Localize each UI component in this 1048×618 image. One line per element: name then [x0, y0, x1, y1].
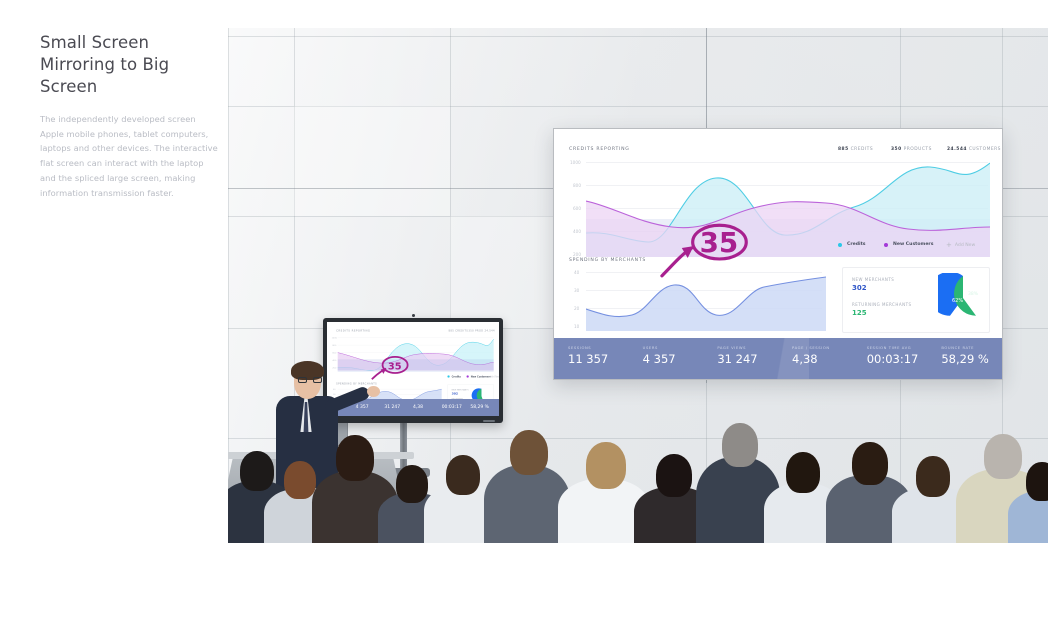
legend-dot-new-customers [884, 243, 888, 247]
returning-merchants-label: RETURNING MERCHANTS [852, 302, 912, 307]
page-root: Small Screen Mirroring to Big Screen The… [0, 0, 1048, 618]
kpi-products: 350 PRODUCTS [891, 147, 932, 152]
pie-label-b: 38% [968, 291, 979, 297]
kpi-customers-value: 24.544 [947, 147, 967, 152]
wall-panel [294, 106, 450, 216]
new-merchants-label: NEW MERCHANTS [852, 277, 894, 282]
legend-label-credits: Credits [847, 242, 866, 247]
credits-ytick-800: 800 [573, 183, 581, 188]
add-new-button[interactable]: + Add New [946, 242, 975, 249]
legend-dot-credits [838, 243, 842, 247]
merchants-ytick-40: 40 [574, 270, 579, 275]
presenter-hand [367, 386, 380, 397]
stat-users-label: USERS [643, 346, 704, 350]
credits-ytick-1000: 1000 [570, 160, 581, 165]
stat-sessions-value: 11 357 [568, 352, 629, 366]
article-body: The independently developed screen Apple… [40, 112, 222, 201]
stat-page-views-label: PAGE VIEWS [717, 346, 778, 350]
kpi-products-value: 350 [891, 147, 902, 152]
stat-page-per-session-label: PAGE / SESSION [792, 346, 853, 350]
stat-users: USERS 4 357 [629, 338, 704, 379]
glasses-icon [298, 377, 322, 383]
stat-session-time-avg-label: SESSION TIME AVG [867, 346, 928, 350]
kpi-customers-label: CUSTOMERS [969, 147, 1001, 152]
article-text-column: Small Screen Mirroring to Big Screen The… [40, 32, 222, 200]
add-new-label: Add New [955, 243, 975, 248]
stat-session-time-avg: SESSION TIME AVG 00:03:17 [853, 338, 928, 379]
credits-ytick-600: 600 [573, 206, 581, 211]
kpi-credits-label: CREDITS [851, 147, 874, 152]
pie-label-a: 62% [952, 298, 963, 304]
credits-ytick-200: 200 [573, 252, 581, 257]
kpi-customers: 24.544 CUSTOMERS [947, 147, 1001, 152]
merchants-pie-chart: 62% 38% [938, 273, 988, 323]
merchants-ytick-10: 10 [574, 324, 579, 329]
svg-text:35: 35 [388, 361, 402, 372]
merchants-area-chart [586, 269, 826, 337]
dashboard-card: CREDITS REPORTING 885 CREDITS 350 PRODUC… [553, 128, 1003, 380]
legend-new-customers[interactable]: New Customers [884, 242, 933, 247]
returning-merchants-value: 125 [852, 309, 867, 317]
page-title: Small Screen Mirroring to Big Screen [40, 32, 222, 98]
stat-page-per-session: PAGE / SESSION 4,38 [778, 338, 853, 379]
merchants-section-title: SPENDING BY MERCHANTS [569, 258, 646, 263]
plus-icon: + [946, 242, 952, 249]
legend-credits[interactable]: Credits [838, 242, 866, 247]
stat-sessions: SESSIONS 11 357 [554, 338, 629, 379]
merchants-ytick-30: 30 [574, 288, 579, 293]
stat-session-time-avg-value: 00:03:17 [867, 352, 928, 366]
tv-camera-icon [412, 314, 415, 317]
kpi-stat-bar: SESSIONS 11 357 USERS 4 357 PAGE VIEWS 3… [554, 338, 1002, 379]
credits-ytick-400: 400 [573, 229, 581, 234]
stat-page-views: PAGE VIEWS 31 247 [703, 338, 778, 379]
stat-bounce-rate-value: 58,29 % [941, 352, 1002, 366]
merchants-ytick-20: 20 [574, 306, 579, 311]
kpi-credits: 885 CREDITS [838, 147, 873, 152]
stat-bounce-rate-label: BOUNCE RATE [941, 346, 1002, 350]
kpi-products-label: PRODUCTS [904, 147, 932, 152]
stat-sessions-label: SESSIONS [568, 346, 629, 350]
stat-page-per-session-value: 4,38 [792, 352, 853, 366]
wall-gridline [228, 36, 1048, 37]
legend-label-new-customers: New Customers [893, 242, 933, 247]
stat-users-value: 4 357 [643, 352, 704, 366]
kpi-credits-value: 885 [838, 147, 849, 152]
new-merchants-value: 302 [852, 284, 867, 292]
stat-bounce-rate: BOUNCE RATE 58,29 % [927, 338, 1002, 379]
audience-crowd [228, 413, 1048, 543]
credits-section-title: CREDITS REPORTING [569, 147, 630, 152]
stat-page-views-value: 31 247 [717, 352, 778, 366]
